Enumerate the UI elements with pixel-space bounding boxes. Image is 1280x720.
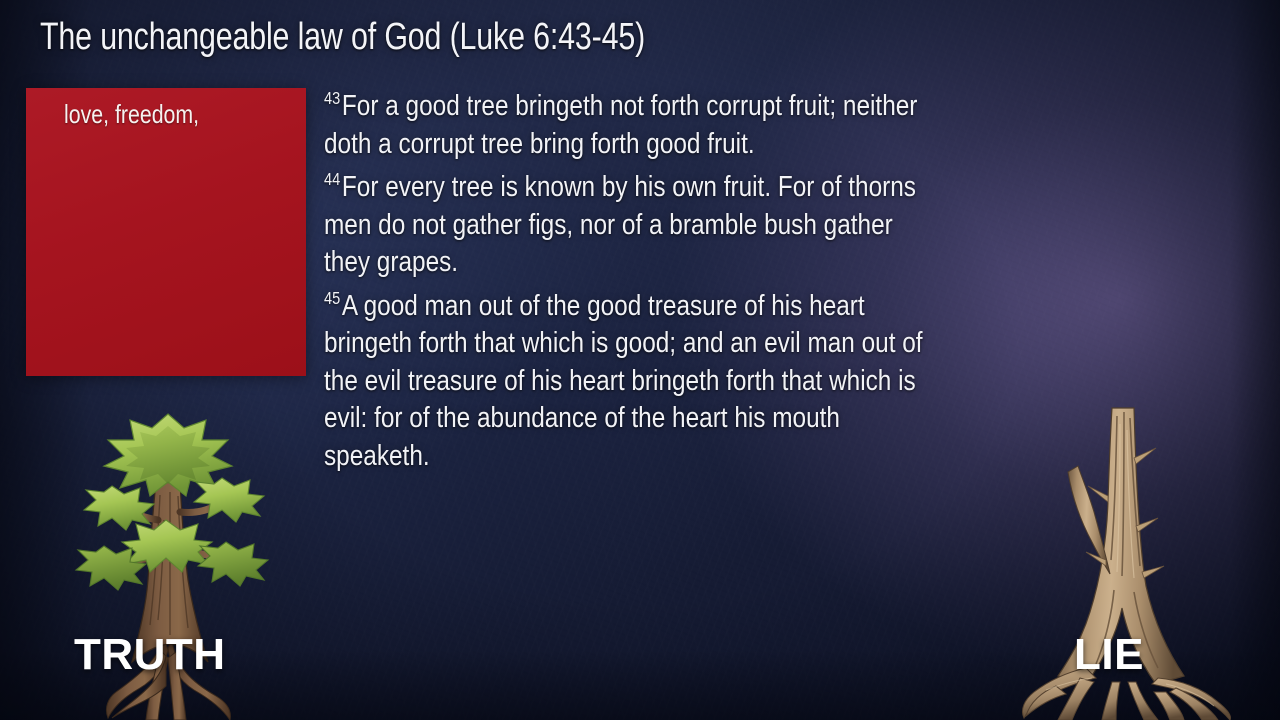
verse-text-44: For every tree is known by his own fruit…: [324, 171, 916, 278]
verse-number-43: 43: [324, 88, 340, 108]
slide-title: The unchangeable law of God (Luke 6:43-4…: [40, 18, 645, 56]
lie-label: LIE: [1074, 633, 1144, 677]
scripture-passage: 43For a good tree bringeth not forth cor…: [324, 88, 944, 481]
verse-43: 43For a good tree bringeth not forth cor…: [324, 88, 941, 163]
red-highlight-panel: love, freedom,: [26, 88, 306, 376]
verse-number-44: 44: [324, 169, 340, 189]
presentation-slide: The unchangeable law of God (Luke 6:43-4…: [0, 0, 1280, 720]
red-panel-label: love, freedom,: [64, 100, 256, 130]
verse-number-45: 45: [324, 288, 340, 308]
verse-44: 44For every tree is known by his own fru…: [324, 169, 941, 282]
verse-text-45: A good man out of the good treasure of h…: [324, 290, 923, 472]
verse-45: 45A good man out of the good treasure of…: [324, 288, 941, 476]
verse-text-43: For a good tree bringeth not forth corru…: [324, 90, 917, 160]
truth-label: TRUTH: [74, 633, 226, 677]
